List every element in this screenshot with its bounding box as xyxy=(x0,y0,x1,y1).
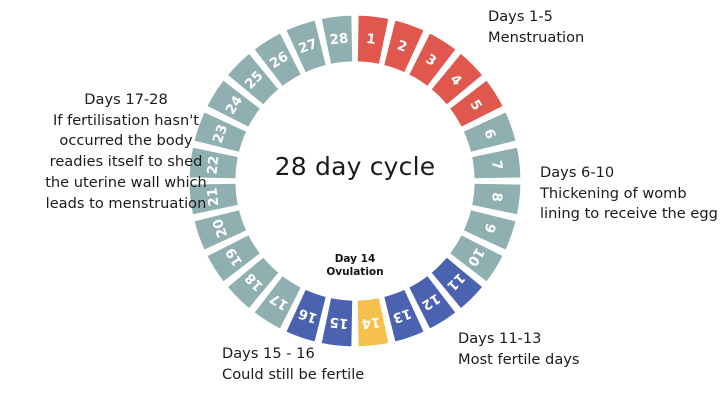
callout-thickening: Days 6-10 Thickening of womb lining to r… xyxy=(540,163,718,225)
callout-most-fertile: Days 11-13 Most fertile days xyxy=(458,329,580,370)
callout-could-still-be-fertile-desc: Could still be fertile xyxy=(222,365,364,386)
callout-menstruation-days: Days 1-5 xyxy=(488,7,584,28)
cycle-diagram-canvas: 1234567891011121314151617181920212223242… xyxy=(0,0,720,404)
callout-menstruation-desc: Menstruation xyxy=(488,28,584,49)
cycle-day-number: 28 xyxy=(329,30,349,48)
callout-could-still-be-fertile: Days 15 - 16 Could still be fertile xyxy=(222,344,364,385)
callout-shed-desc-4: the uterine wall which xyxy=(28,173,224,194)
ovulation-marker: Day 14 Ovulation xyxy=(300,253,410,280)
cycle-day-number: 8 xyxy=(488,191,505,202)
callout-thickening-desc-1: Thickening of womb xyxy=(540,184,718,205)
callout-thickening-desc-2: lining to receive the egg xyxy=(540,204,718,225)
callout-could-still-be-fertile-days: Days 15 - 16 xyxy=(222,344,364,365)
cycle-day-number: 1 xyxy=(365,31,376,48)
cycle-day-number: 7 xyxy=(488,159,505,170)
callout-shed-desc-3: readies itself to shed xyxy=(28,152,224,173)
cycle-day-number: 15 xyxy=(329,314,349,332)
callout-shed-desc-2: occurred the body xyxy=(28,131,224,152)
callout-thickening-days: Days 6-10 xyxy=(540,163,718,184)
cycle-segments-group xyxy=(189,15,521,347)
callout-shed-days: Days 17-28 xyxy=(28,90,224,111)
callout-shed-desc-1: If fertilisation hasn't xyxy=(28,111,224,132)
callout-shed-uterine-wall: Days 17-28 If fertilisation hasn't occur… xyxy=(28,90,224,214)
ovulation-day-label: Day 14 xyxy=(300,253,410,266)
callout-most-fertile-days: Days 11-13 xyxy=(458,329,580,350)
cycle-segment-labels-group: 1234567891011121314151617181920212223242… xyxy=(204,30,505,331)
cycle-day-number: 14 xyxy=(361,314,381,332)
page-title: 28 day cycle xyxy=(232,152,478,181)
callout-most-fertile-desc: Most fertile days xyxy=(458,350,580,371)
callout-shed-desc-5: leads to menstruation xyxy=(28,194,224,215)
callout-menstruation: Days 1-5 Menstruation xyxy=(488,7,584,48)
ovulation-phase-label: Ovulation xyxy=(300,266,410,279)
